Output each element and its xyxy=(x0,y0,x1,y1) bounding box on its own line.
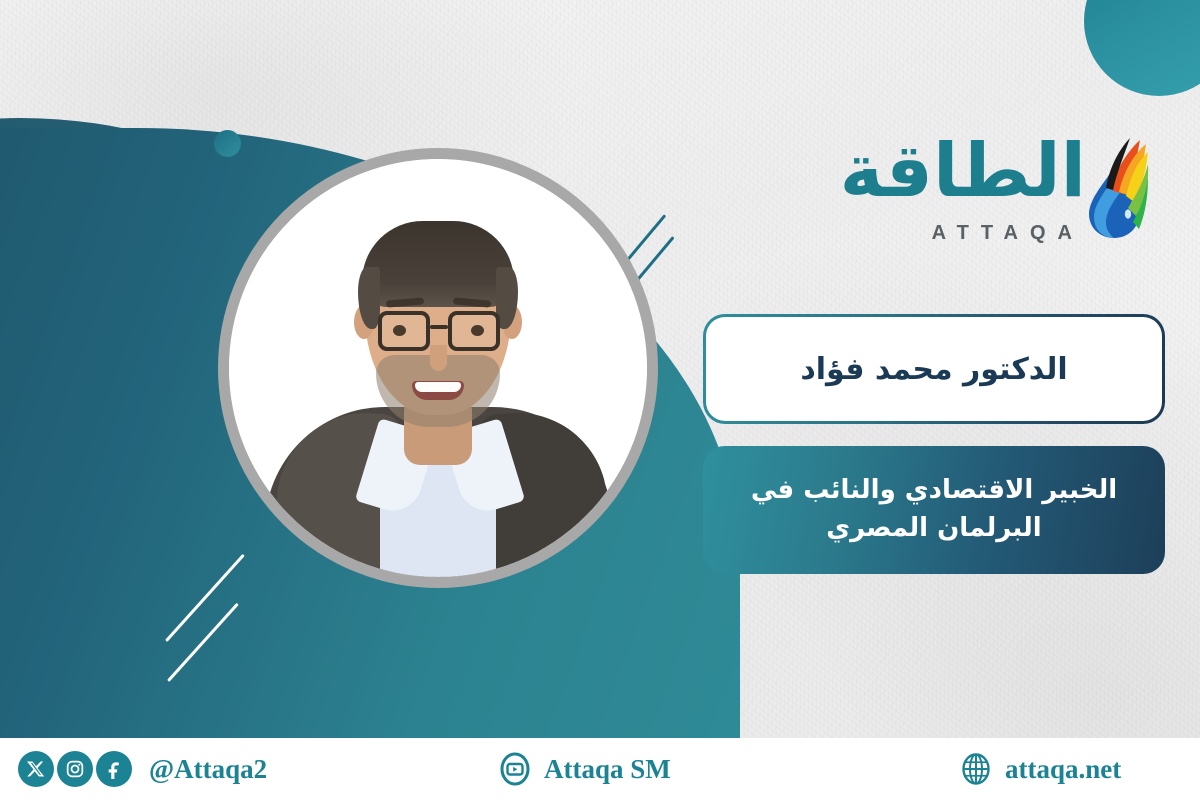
footer-social-group: @Attaqa2 xyxy=(18,751,267,787)
logo-arabic-wordmark: الطاقة xyxy=(840,134,1086,208)
accent-dot xyxy=(214,130,241,157)
person-name: الدكتور محمد فؤاد xyxy=(800,352,1067,387)
footer-bar: @Attaqa2 Attaqa SM xyxy=(0,738,1200,800)
footer-youtube-group: Attaqa SM xyxy=(497,751,671,787)
footer-website-group: attaqa.net xyxy=(958,751,1121,787)
person-title-card: الخبير الاقتصادي والنائب في البرلمان الم… xyxy=(703,446,1165,574)
logo-latin-wordmark: ATTAQA xyxy=(932,222,1084,245)
portrait-frame xyxy=(218,148,658,588)
website-label[interactable]: attaqa.net xyxy=(1005,754,1121,785)
social-handle[interactable]: @Attaqa2 xyxy=(149,754,267,785)
person-title: الخبير الاقتصادي والنائب في البرلمان الم… xyxy=(703,472,1165,547)
youtube-label[interactable]: Attaqa SM xyxy=(544,754,671,785)
person-name-card: الدكتور محمد فؤاد xyxy=(703,314,1165,424)
instagram-icon[interactable] xyxy=(57,751,93,787)
facebook-icon[interactable] xyxy=(96,751,132,787)
promo-card: الطاقة ATTAQA الدكتور محمد فؤاد الخبير ا… xyxy=(0,0,1200,800)
energy-droplet-icon xyxy=(1078,130,1150,242)
globe-icon[interactable] xyxy=(958,751,994,787)
corner-circle xyxy=(1084,0,1200,96)
x-twitter-icon[interactable] xyxy=(18,751,54,787)
youtube-icon[interactable] xyxy=(497,751,533,787)
attaqa-logo: الطاقة ATTAQA xyxy=(814,138,1144,256)
portrait-photo xyxy=(229,159,647,577)
